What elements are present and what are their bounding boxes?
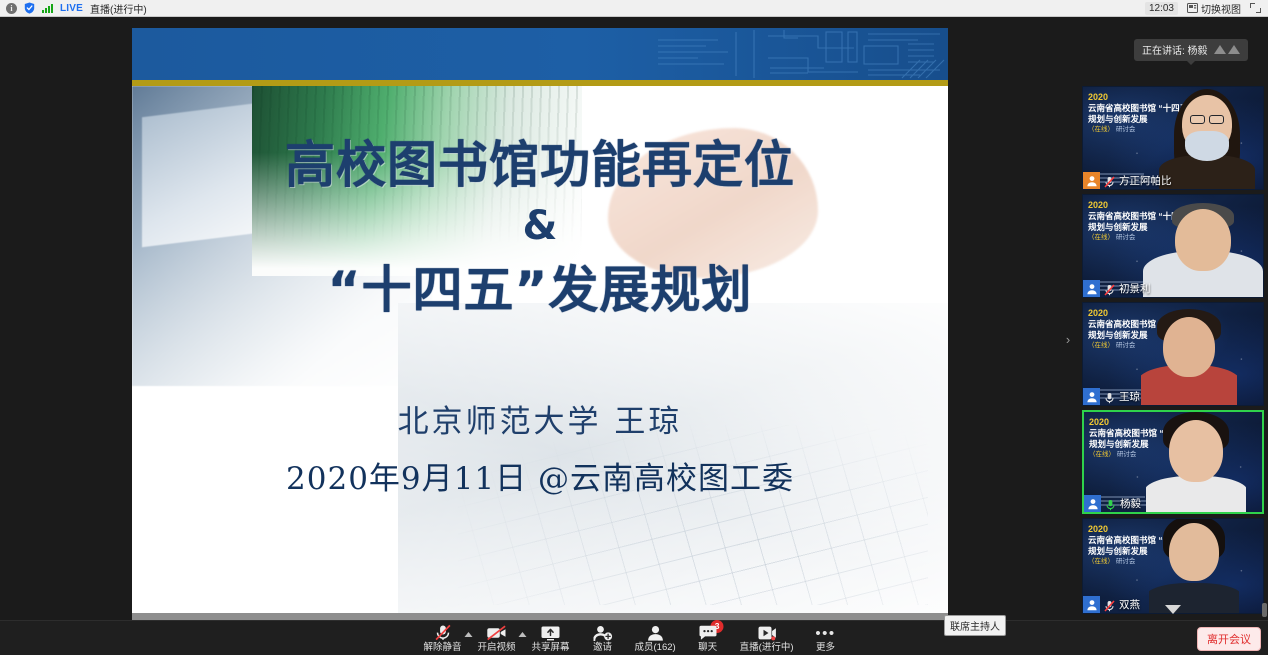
participant-name: 双燕 <box>1119 597 1140 612</box>
participant-tile-active[interactable]: 2020 云南省高校图书馆 “十四五” 规划与创新发展 （在线） 研讨会 杨毅 <box>1082 410 1264 514</box>
share-screen-button[interactable]: 共享屏幕 <box>524 621 576 655</box>
avatar <box>1084 495 1101 512</box>
participant-name: 方正阿帕比 <box>1119 173 1172 188</box>
grid-view-icon <box>1187 3 1198 13</box>
mic-muted-icon <box>434 624 451 641</box>
view-switch-label: 切换视图 <box>1201 1 1241 16</box>
chevron-down-icon[interactable] <box>1165 605 1181 614</box>
leave-meeting-button[interactable]: 离开会议 <box>1197 627 1261 651</box>
participant-name-row: 双燕 <box>1083 596 1145 613</box>
mic-muted-icon <box>1104 599 1115 611</box>
participant-video <box>1146 410 1246 512</box>
more-dots-icon: ••• <box>815 624 835 641</box>
shared-screen-stage: 高校图书馆功能再定位 & “十四五”发展规划 北京师范大学 王琼 2020年9月… <box>0 17 1078 620</box>
participant-tile[interactable]: 2020 云南省高校图书馆 “十四五” 规划与创新发展 （在线） 研讨会 双燕 <box>1082 518 1264 614</box>
participant-tile[interactable]: 2020 云南省高校图书馆 “十四五” 规划与创新发展 （在线） 研讨会 初景利 <box>1082 194 1264 298</box>
slide-title-line2: “十四五”发展规划 <box>132 250 948 322</box>
share-screen-label: 共享屏幕 <box>531 642 569 653</box>
zoom-meeting-window: i LIVE 直播(进行中) 12:03 切换视图 <box>0 0 1268 655</box>
start-video-label: 开启视频 <box>477 642 515 653</box>
top-bar-right-group: 12:03 切换视图 <box>1145 1 1268 16</box>
slide-ampersand: & <box>132 203 948 249</box>
participant-name-row: 王琼 <box>1083 388 1145 405</box>
mic-on-icon <box>1104 391 1115 403</box>
cohost-tooltip: 联席主持人 <box>944 615 1006 636</box>
invite-label: 邀请 <box>593 642 612 653</box>
more-button[interactable]: ••• 更多 <box>800 621 852 655</box>
info-icon[interactable]: i <box>6 3 17 14</box>
participants-label: 成员(162) <box>634 642 675 653</box>
participant-name-row: 初景利 <box>1083 280 1156 297</box>
unmute-label: 解除静音 <box>423 642 461 653</box>
participant-video <box>1143 194 1263 297</box>
view-switch-button[interactable]: 切换视图 <box>1187 1 1241 16</box>
avatar <box>1083 280 1100 297</box>
mic-muted-icon <box>1104 175 1115 187</box>
toolbar-items: 解除静音 开启视频 共享屏幕 邀请 <box>416 621 851 655</box>
live-stream-button[interactable]: 直播(进行中) <box>734 621 800 655</box>
video-off-icon <box>486 624 506 641</box>
live-tag: LIVE <box>60 3 83 14</box>
chat-label: 聊天 <box>698 642 717 653</box>
invite-icon <box>593 624 612 641</box>
participant-video <box>1149 518 1239 613</box>
live-status-label: 直播(进行中) <box>90 1 147 16</box>
avatar <box>1083 596 1100 613</box>
avatar <box>1083 388 1100 405</box>
signal-strength-icon[interactable] <box>42 3 53 13</box>
avatar <box>1083 172 1100 189</box>
slide-author: 北京师范大学 王琼 <box>132 396 948 441</box>
invite-button[interactable]: 邀请 <box>576 621 628 655</box>
speaking-now-tooltip: 正在讲话: 杨毅 <box>1134 39 1248 61</box>
top-status-bar: i LIVE 直播(进行中) 12:03 切换视图 <box>0 0 1268 17</box>
chat-icon <box>698 624 717 641</box>
live-stream-label: 直播(进行中) <box>740 642 794 653</box>
unmute-button[interactable]: 解除静音 <box>416 621 468 655</box>
slide-date-venue: 2020年9月11日 @云南高校图工委 <box>132 453 948 498</box>
participant-name-row: 杨毅 <box>1084 495 1146 512</box>
participant-name: 初景利 <box>1119 281 1151 296</box>
filmstrip-scrollbar[interactable] <box>1262 603 1267 617</box>
mic-muted-icon <box>1104 283 1115 295</box>
speaking-now-label: 正在讲话: 杨毅 <box>1142 42 1208 57</box>
participant-tile[interactable]: 2020 云南省高校图书馆 “十四五” 规划与创新发展 （在线） 研讨会 王琼 <box>1082 302 1264 406</box>
participant-name-row: 方正阿帕比 <box>1083 172 1177 189</box>
participant-video <box>1141 302 1237 405</box>
fullscreen-icon[interactable] <box>1250 3 1261 13</box>
participants-button[interactable]: 成员(162) <box>628 621 681 655</box>
slide-title-line1: 高校图书馆功能再定位 <box>132 140 948 191</box>
chat-button[interactable]: 3 聊天 <box>682 621 734 655</box>
start-video-button[interactable]: 开启视频 <box>470 621 522 655</box>
live-stream-icon <box>757 624 776 641</box>
share-screen-icon <box>540 624 560 641</box>
slide-bottom-shadow <box>132 613 948 620</box>
meeting-toolbar: 解除静音 开启视频 共享屏幕 邀请 <box>0 620 1268 655</box>
participants-icon <box>646 624 664 641</box>
shared-slide: 高校图书馆功能再定位 & “十四五”发展规划 北京师范大学 王琼 2020年9月… <box>132 28 948 613</box>
top-bar-left-group: i LIVE 直播(进行中) <box>0 1 147 16</box>
shield-icon[interactable] <box>24 2 35 14</box>
audio-wave-icon <box>1214 45 1240 54</box>
participant-tile[interactable]: 2020 云南省高校图书馆 “十四五” 规划与创新发展 （在线） 研讨会 <box>1082 86 1264 190</box>
mic-active-icon <box>1105 498 1116 510</box>
more-label: 更多 <box>816 642 835 653</box>
slide-text-layer: 高校图书馆功能再定位 & “十四五”发展规划 北京师范大学 王琼 2020年9月… <box>132 28 948 613</box>
participant-filmstrip[interactable]: 正在讲话: 杨毅 2020 云南省高校图书馆 “十四五” 规划与创新发展 （在线… <box>1078 17 1268 620</box>
clock: 12:03 <box>1145 2 1178 15</box>
participant-name: 杨毅 <box>1120 496 1141 511</box>
participant-name: 王琼 <box>1119 389 1140 404</box>
chevron-right-icon[interactable]: › <box>1062 330 1074 350</box>
